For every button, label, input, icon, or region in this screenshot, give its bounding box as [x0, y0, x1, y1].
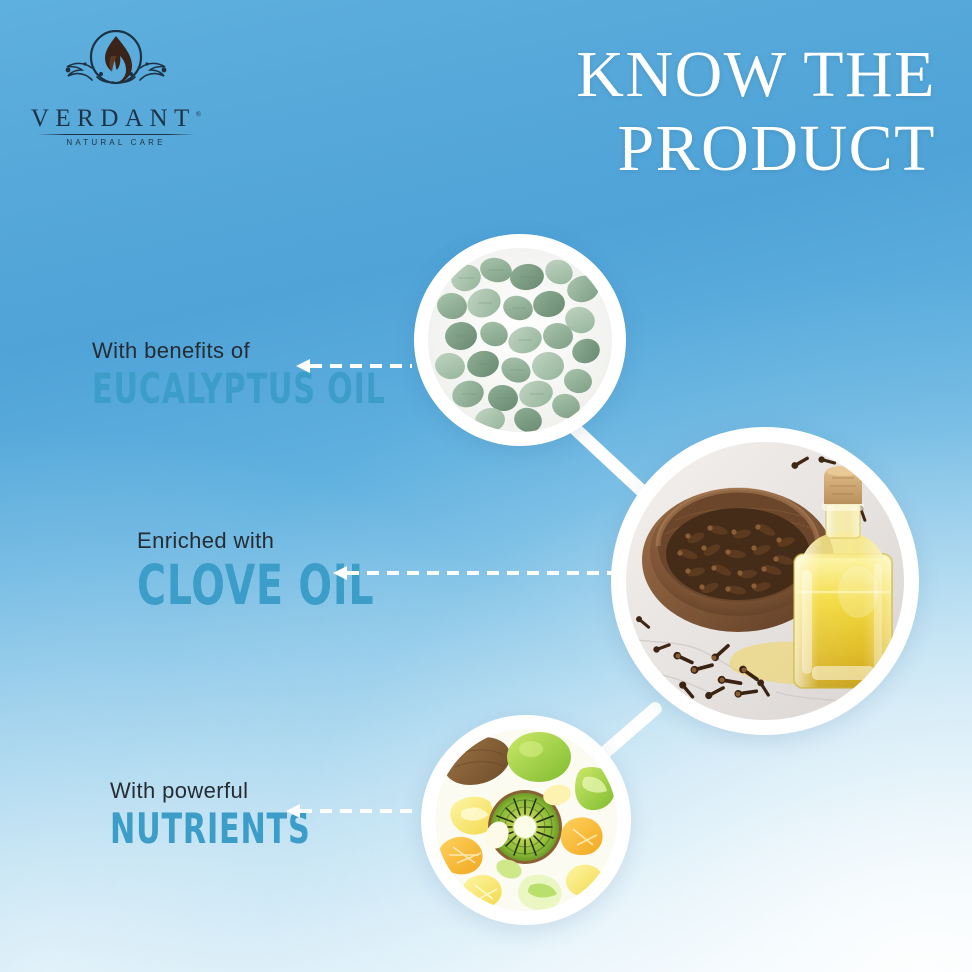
callout-eucalyptus: With benefits of EUCALYPTUS OIL: [92, 338, 459, 410]
flame-leaf-emblem-icon: [41, 30, 191, 109]
feature-node-clove[interactable]: [611, 427, 919, 735]
page-title-line-2: PRODUCT: [416, 112, 936, 186]
arrow-dashes: [300, 809, 420, 813]
brand-wordmark: VERDANT®: [27, 106, 205, 131]
callout-nutrients-small-label: With powerful: [110, 778, 361, 804]
brand-tagline: NATURAL CARE: [27, 138, 205, 147]
arrow-dashes: [347, 571, 613, 575]
arrow-head: [286, 804, 300, 818]
logo-divider: [37, 134, 195, 135]
callout-clove-small-label: Enriched with: [137, 528, 434, 554]
dashed-arrow-left-icon-eucalyptus: [296, 363, 412, 369]
arrow-head: [296, 359, 310, 373]
page-title-line-1: KNOW THE: [416, 38, 936, 112]
clove-oil-photo: [626, 442, 904, 720]
feature-node-nutrients[interactable]: [421, 715, 631, 925]
arrow-head: [333, 566, 347, 580]
trademark-symbol: ®: [196, 111, 201, 119]
poster-canvas: VERDANT® NATURAL CARE KNOW THE PRODUCT: [0, 0, 972, 972]
fresh-fruit-photo: [435, 729, 617, 911]
callout-eucalyptus-small-label: With benefits of: [92, 338, 459, 364]
page-title: KNOW THE PRODUCT: [416, 38, 936, 186]
dashed-arrow-left-icon-nutrients: [286, 808, 420, 814]
wordmark-text: VERDANT: [31, 105, 196, 132]
callout-nutrients-big-label: NUTRIENTS: [110, 808, 311, 850]
brand-logo[interactable]: VERDANT® NATURAL CARE: [27, 30, 205, 148]
arrow-dashes: [310, 364, 412, 368]
dashed-arrow-left-icon-clove: [333, 570, 613, 576]
callout-eucalyptus-big-label: EUCALYPTUS OIL: [92, 368, 386, 410]
